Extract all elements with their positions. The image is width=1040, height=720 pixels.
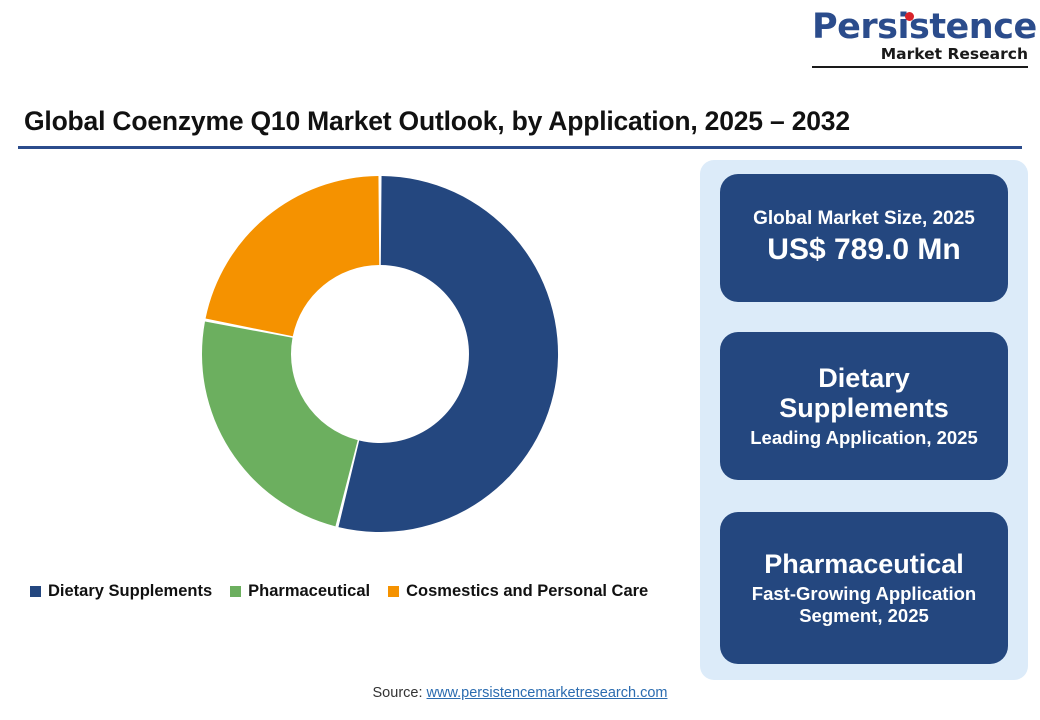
infographic-page: Persistence Market Research Global Coenz…	[0, 0, 1040, 720]
legend-label: Cosmestics and Personal Care	[406, 582, 648, 601]
fast-growing-sub-line1: Fast-Growing Application	[752, 583, 976, 605]
logo-divider	[812, 66, 1028, 68]
legend-swatch-icon	[388, 586, 399, 597]
page-title: Global Coenzyme Q10 Market Outlook, by A…	[24, 106, 850, 137]
source-footer: Source: www.persistencemarketresearch.co…	[0, 685, 1040, 701]
title-divider	[18, 146, 1022, 149]
market-size-caption: Global Market Size, 2025	[753, 208, 975, 230]
fast-growing-heading: Pharmaceutical	[764, 549, 964, 579]
market-size-value: US$ 789.0 Mn	[767, 232, 960, 268]
legend-label: Pharmaceutical	[248, 582, 370, 601]
brand-logo: Persistence Market Research	[812, 10, 1028, 63]
legend-swatch-icon	[30, 586, 41, 597]
leading-application-heading-line2: Supplements	[779, 393, 949, 423]
donut-chart-graphic	[198, 172, 562, 536]
chart-legend: Dietary SupplementsPharmaceuticalCosmest…	[30, 582, 648, 601]
legend-item[interactable]: Dietary Supplements	[30, 582, 212, 601]
brand-dot-icon	[905, 12, 914, 21]
fast-growing-segment-card: Pharmaceutical Fast-Growing Application …	[720, 512, 1008, 664]
brand-name: Persistence	[812, 10, 1028, 45]
donut-slice[interactable]	[206, 176, 380, 336]
donut-svg	[198, 172, 562, 536]
source-link[interactable]: www.persistencemarketresearch.com	[427, 685, 668, 701]
donut-chart	[12, 158, 692, 618]
leading-application-sub: Leading Application, 2025	[750, 427, 978, 449]
donut-slice[interactable]	[202, 322, 358, 527]
leading-application-heading-line1: Dietary	[818, 363, 910, 393]
brand-tagline: Market Research	[812, 47, 1028, 63]
highlights-panel: Global Market Size, 2025 US$ 789.0 Mn Di…	[700, 160, 1028, 680]
source-label: Source:	[373, 685, 423, 701]
fast-growing-sub-line2: Segment, 2025	[799, 605, 929, 627]
legend-swatch-icon	[230, 586, 241, 597]
leading-application-card: Dietary Supplements Leading Application,…	[720, 332, 1008, 480]
legend-item[interactable]: Pharmaceutical	[230, 582, 370, 601]
legend-label: Dietary Supplements	[48, 582, 212, 601]
market-size-card: Global Market Size, 2025 US$ 789.0 Mn	[720, 174, 1008, 302]
legend-item[interactable]: Cosmestics and Personal Care	[388, 582, 648, 601]
donut-slice-group	[202, 176, 558, 532]
